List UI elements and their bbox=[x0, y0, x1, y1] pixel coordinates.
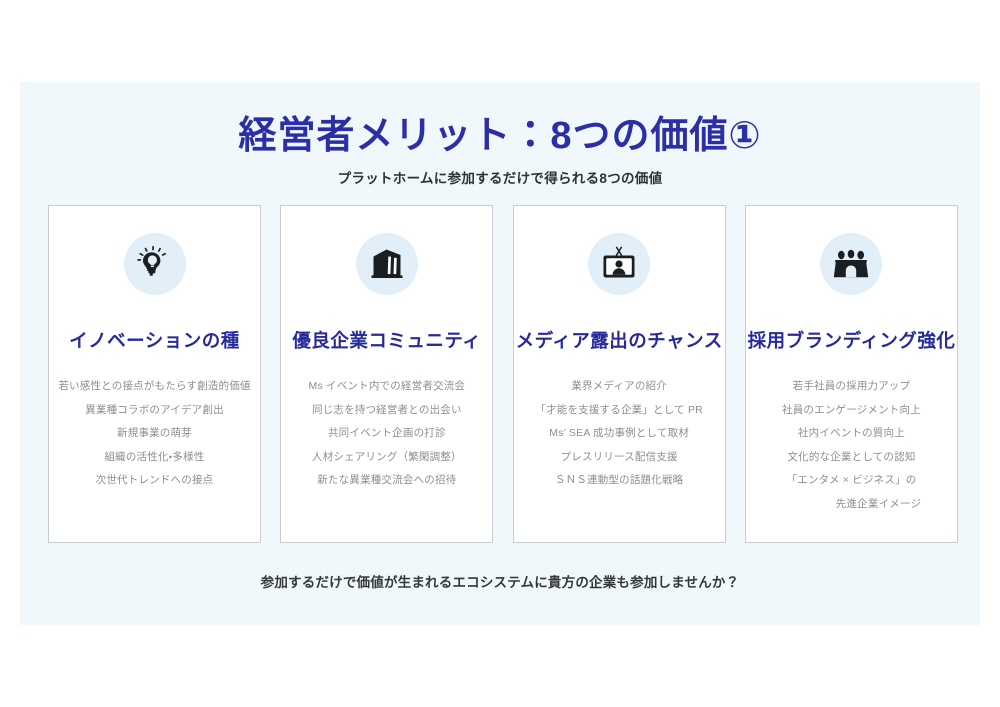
card-benefit-list: 若手社員の採用力アップ 社員のエンゲージメント向上 社内イベントの質向上 文化的… bbox=[746, 375, 957, 516]
list-item: 先進企業イメージ bbox=[746, 493, 957, 517]
list-item: 組織の活性化・多様性 bbox=[49, 446, 260, 470]
list-item: 社員のエンゲージメント向上 bbox=[746, 399, 957, 423]
card-title: 優良企業コミュニティ bbox=[292, 327, 481, 353]
building-icon bbox=[356, 233, 418, 295]
card-benefit-list: 若い感性との接点がもたらす創造的価値 異業種コラボのアイデア創出 新規事業の萌芽… bbox=[49, 375, 260, 493]
list-item: 社内イベントの質向上 bbox=[746, 422, 957, 446]
slide-root: 経営者メリット：8つの価値① プラットホームに参加するだけで得られる8つの価値 bbox=[0, 0, 1000, 707]
people-group-icon bbox=[820, 233, 882, 295]
list-item: 次世代トレンドへの接点 bbox=[49, 469, 260, 493]
value-card-list: イノベーションの種 若い感性との接点がもたらす創造的価値 異業種コラボのアイデア… bbox=[48, 205, 958, 543]
value-card-community[interactable]: 優良企業コミュニティ Ms イベント内での経営者交流会 同じ志を持つ経営者との出… bbox=[280, 205, 493, 543]
list-item: ＳＮＳ連動型の話題化戦略 bbox=[514, 469, 725, 493]
list-item: 文化的な企業としての認知 bbox=[746, 446, 957, 470]
list-item: 新規事業の萌芽 bbox=[49, 422, 260, 446]
list-item: 若手社員の採用力アップ bbox=[746, 375, 957, 399]
card-title: イノベーションの種 bbox=[69, 327, 240, 353]
list-item: 人材シェアリング（繁閑調整） bbox=[281, 446, 492, 470]
content-panel: 経営者メリット：8つの価値① プラットホームに参加するだけで得られる8つの価値 bbox=[20, 82, 980, 625]
list-item: 共同イベント企画の打診 bbox=[281, 422, 492, 446]
television-icon bbox=[588, 233, 650, 295]
card-benefit-list: 業界メディアの紹介 「才能を支援する企業」として PR Ms’ SEA 成功事例… bbox=[514, 375, 725, 493]
value-card-recruiting[interactable]: 採用ブランディング強化 若手社員の採用力アップ 社員のエンゲージメント向上 社内… bbox=[745, 205, 958, 543]
card-title: 採用ブランディング強化 bbox=[748, 327, 956, 353]
list-item: 若い感性との接点がもたらす創造的価値 bbox=[49, 375, 260, 399]
card-title: メディア露出のチャンス bbox=[516, 327, 723, 353]
list-item: 同じ志を持つ経営者との出会い bbox=[281, 399, 492, 423]
list-item: Ms イベント内での経営者交流会 bbox=[281, 375, 492, 399]
value-card-innovation[interactable]: イノベーションの種 若い感性との接点がもたらす創造的価値 異業種コラボのアイデア… bbox=[48, 205, 261, 543]
list-item: Ms’ SEA 成功事例として取材 bbox=[514, 422, 725, 446]
list-item: 新たな異業種交流会への招待 bbox=[281, 469, 492, 493]
list-item: プレスリリース配信支援 bbox=[514, 446, 725, 470]
list-item: 「エンタメ × ビジネス」の bbox=[746, 469, 957, 493]
list-item: 異業種コラボのアイデア創出 bbox=[49, 399, 260, 423]
list-item: 「才能を支援する企業」として PR bbox=[514, 399, 725, 423]
page-subtitle: プラットホームに参加するだけで得られる8つの価値 bbox=[20, 167, 980, 187]
lightbulb-head-icon bbox=[124, 233, 186, 295]
value-card-media[interactable]: メディア露出のチャンス 業界メディアの紹介 「才能を支援する企業」として PR … bbox=[513, 205, 726, 543]
card-benefit-list: Ms イベント内での経営者交流会 同じ志を持つ経営者との出会い 共同イベント企画… bbox=[281, 375, 492, 493]
footer-call-to-action: 参加するだけで価値が生まれるエコシステムに貴方の企業も参加しませんか？ bbox=[20, 571, 980, 591]
page-title: 経営者メリット：8つの価値① bbox=[20, 104, 980, 159]
list-item: 業界メディアの紹介 bbox=[514, 375, 725, 399]
